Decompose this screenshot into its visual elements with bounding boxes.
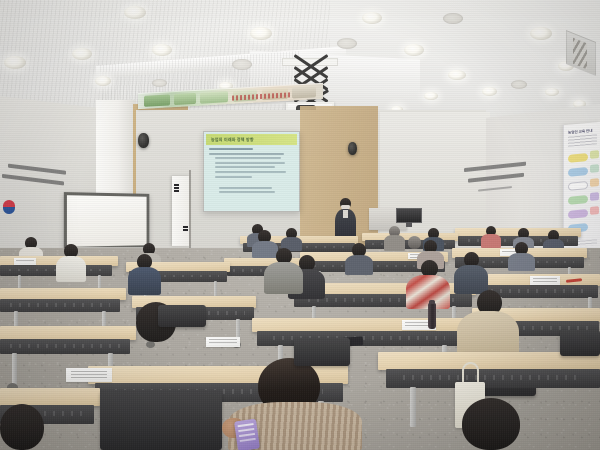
attendee-navy-right [452, 252, 490, 294]
ceiling-downlight [545, 88, 559, 96]
slide-line [209, 148, 253, 150]
ceiling-downlight-off [511, 80, 527, 89]
ceiling-downlight [424, 92, 438, 100]
poster-side-chip [590, 206, 599, 215]
right-wall-text-credit [478, 186, 512, 192]
ceiling-downlight [250, 27, 272, 40]
whiteboard [64, 192, 149, 250]
lecture-hall-photo: 땅에서 흙이 살고 농업이 산다 농업이 농민의 땀과 함께라 진정으로 성장할… [0, 0, 600, 450]
wall-speaker-icon [138, 133, 149, 148]
smartphone-foreground[interactable] [234, 419, 260, 450]
flag-trigram [174, 190, 179, 192]
presenter-shirt-collar [343, 210, 348, 218]
left-wall-text-line2 [2, 174, 64, 186]
poster-side-chip [590, 164, 599, 173]
training-table [0, 388, 100, 406]
ceiling-downlight [95, 76, 111, 86]
slide-title: 농업의 미래와 정책 방향 [211, 137, 254, 143]
attendee-torso [264, 262, 303, 294]
poster-side-chip [590, 192, 599, 201]
poster-pill [568, 195, 588, 205]
poster-pill [568, 209, 588, 219]
ceiling-downlight [482, 87, 497, 96]
ceiling-downlight [72, 48, 92, 60]
slide-line [209, 153, 284, 155]
poster-side-chip [590, 178, 599, 187]
ceiling-downlight-off [152, 79, 167, 87]
attendee-head [408, 236, 421, 249]
attendee-torso [56, 256, 86, 282]
attendee-torso [345, 255, 373, 275]
ceiling-downlight [362, 12, 382, 24]
attendee-head [462, 398, 520, 450]
chair-back [560, 330, 600, 356]
slide-line [219, 191, 275, 193]
flag-trigram [183, 229, 188, 231]
bottle-cap [429, 300, 435, 304]
monitor-stand [406, 222, 412, 227]
projection-screen: 농업의 미래와 정책 방향 [203, 131, 300, 212]
attendee-head [0, 404, 44, 450]
slide-line [215, 171, 286, 173]
slide-line [215, 157, 281, 159]
presentation-monitor [396, 208, 422, 223]
ceiling-downlight-off [337, 38, 357, 49]
presentation-slide: 농업의 미래와 정책 방향 [204, 132, 299, 211]
attendee-right-foreground [432, 398, 552, 450]
ceiling-downlight-off [232, 59, 252, 70]
attendee-torso [508, 253, 535, 271]
handout-paper [14, 258, 36, 265]
ceiling-downlight-off [443, 13, 463, 24]
handout-paper [206, 337, 240, 347]
slide-line [219, 187, 272, 189]
wall-speaker-icon [348, 142, 357, 155]
attendee-torso [481, 234, 501, 248]
attendee-navy-jacket [126, 254, 162, 296]
chair-back [294, 338, 350, 366]
ceiling-downlight [124, 6, 146, 19]
water-bottle [428, 303, 436, 329]
ceiling-downlight [448, 70, 466, 80]
flag-trigram [174, 184, 179, 186]
poster-subtext [568, 134, 597, 147]
poster-side-chip [590, 150, 599, 159]
right-wall-text-line2 [468, 173, 524, 183]
attendee-gray-jacket [262, 248, 304, 294]
slide-line [215, 162, 285, 164]
ceiling-downlight [530, 27, 552, 40]
handout-paper [530, 276, 560, 285]
table-leg [12, 353, 17, 385]
chair-back [158, 305, 206, 327]
slide-line [215, 176, 252, 178]
attendee-torso [128, 267, 161, 295]
ceiling-downlight [152, 44, 172, 56]
chair-back [100, 390, 222, 450]
flag-trigram [174, 187, 179, 189]
ceiling-downlight [4, 56, 26, 69]
attendee-white-top [54, 244, 88, 282]
flag-trigram [183, 226, 188, 228]
slide-line [215, 166, 275, 168]
slide-body [209, 148, 294, 208]
slide-header-bar: 농업의 미래와 정책 방향 [206, 134, 297, 145]
table-modesty-panel [386, 369, 600, 388]
poster-pill [568, 167, 588, 177]
handout-paper [66, 368, 112, 382]
attendee-torso [384, 235, 405, 251]
flag-pole [189, 170, 191, 248]
flag-taeguk-red [3, 200, 15, 207]
ceiling-downlight [404, 44, 424, 56]
poster-pill [568, 181, 588, 191]
poster-pill [568, 153, 588, 163]
table-leg [410, 387, 416, 427]
